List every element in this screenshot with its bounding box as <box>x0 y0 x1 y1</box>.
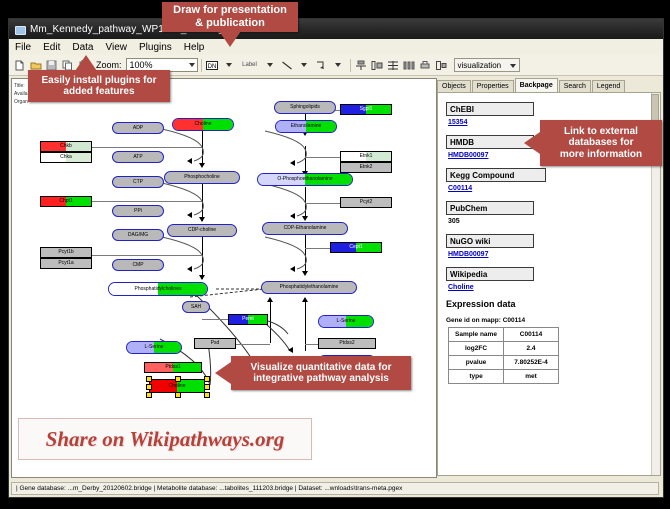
node-phosphocholine[interactable]: Phosphocholine <box>164 171 240 184</box>
node-label: Choline <box>169 384 186 389</box>
node-label: Ptdss1 <box>165 365 180 370</box>
node-l-serine-left[interactable]: L-Serine <box>126 341 182 354</box>
chevron-down-icon <box>189 63 195 67</box>
line-tool-icon[interactable] <box>280 58 295 73</box>
node-label: CDP-Ethanolamine <box>284 226 327 231</box>
selection-handle-nw[interactable] <box>146 376 152 382</box>
edge-cdpcholine-ptdcholine <box>202 235 203 279</box>
zoom-value: 100% <box>130 60 153 70</box>
node-phosphatidylcholines[interactable]: Phosphatidylcholines <box>108 282 208 296</box>
connector-psd-edge <box>235 344 270 345</box>
connector-pcyt2-edge <box>305 203 340 204</box>
cell-value: met <box>504 370 559 384</box>
menu-view[interactable]: View <box>99 42 133 53</box>
db-link-kegg[interactable]: C00114 <box>448 185 660 192</box>
node-atp[interactable]: ATP <box>112 151 164 163</box>
callout-draw-text: Draw for presentation & publication <box>173 4 287 29</box>
share-banner-text: Share on Wikipathways.org <box>46 427 285 452</box>
node-label: L-Serine <box>145 345 164 350</box>
label-tool-icon[interactable]: Label <box>239 58 261 73</box>
svg-text:DN: DN <box>208 64 217 70</box>
toolbar-separator <box>350 59 351 72</box>
connector-etnk-edge <box>305 157 340 158</box>
pathvisio-icon <box>14 24 25 35</box>
chevron-down-icon <box>301 63 307 67</box>
table-row: type met <box>449 370 559 384</box>
tab-properties[interactable]: Properties <box>472 80 514 92</box>
stack-tool-icon[interactable] <box>386 58 401 73</box>
callout-draw-arrow <box>219 31 241 47</box>
arrowhead-icon <box>187 158 192 164</box>
arrowhead-icon <box>199 217 205 222</box>
node-label: L-Serine <box>337 319 356 324</box>
node-label: Chpt1 <box>59 199 72 204</box>
selection-handle-se[interactable] <box>204 392 210 398</box>
db-header-pubchem: PubChem <box>446 201 534 215</box>
callout-visualize-text: Visualize quantitative data for integrat… <box>251 362 392 385</box>
callout-plugins-text: Easily install plugins for added feature… <box>41 75 156 98</box>
node-phosphatidylethanolamine[interactable]: Phosphatidylethanolamine <box>261 281 357 294</box>
node-chpt1[interactable]: Chpt1 <box>40 196 92 207</box>
node-ptdss1[interactable]: Ptdss1 <box>144 362 202 373</box>
node-label: CDP-choline <box>188 228 216 233</box>
chevron-down-icon <box>267 63 273 67</box>
status-text: | Gene database: ...m_Derby_20120602.bri… <box>16 485 402 492</box>
callout-draw: Draw for presentation & publication <box>162 2 298 32</box>
pathway-organism-label: Organ <box>14 99 28 105</box>
arrowhead-icon <box>302 297 308 302</box>
arrowhead-icon <box>302 271 308 276</box>
title-bar: Mm_Kennedy_pathway_WP1771_45176.gpml <box>9 19 663 39</box>
node-label: Sgpl1 <box>360 107 373 112</box>
menu-bar: File Edit Data View Plugins Help <box>9 39 663 56</box>
node-label: Pcyt1a <box>58 261 73 266</box>
print-icon[interactable] <box>418 58 433 73</box>
order-tool-icon[interactable] <box>434 58 449 73</box>
node-label: Chka <box>60 155 72 160</box>
callout-plugins-arrow <box>75 55 97 71</box>
menu-edit[interactable]: Edit <box>37 42 66 53</box>
selection-handle-ne[interactable] <box>204 376 210 382</box>
expression-data-heading: Expression data <box>446 299 660 309</box>
arrowhead-icon <box>290 160 295 166</box>
node-label: Phosphocholine <box>184 175 220 180</box>
edge-cdpetn-ptdetn <box>305 232 306 274</box>
pathway-title-label: Title: <box>14 83 25 89</box>
node-ptdss2[interactable]: Ptdss2 <box>318 338 376 349</box>
edge-ethanolamine-ophospho <box>305 146 306 174</box>
db-header-chebi: ChEBI <box>446 102 534 116</box>
arrowhead-icon <box>290 213 295 219</box>
node-cmp[interactable]: CMP <box>112 259 164 271</box>
tab-objects[interactable]: Objects <box>437 80 471 92</box>
table-row: pvalue 7.80252E-4 <box>449 356 559 370</box>
chevron-down-icon <box>510 64 516 68</box>
connector-pcyt1-edge <box>92 255 202 256</box>
interaction-dropdown[interactable] <box>330 58 347 73</box>
node-label: SAH <box>191 305 201 310</box>
db-header-kegg: Kegg Compound <box>446 168 546 182</box>
node-label: Phosphatidylethanolamine <box>280 285 339 290</box>
node-pcyt1a[interactable]: Pcyt1a <box>40 258 92 269</box>
node-label: Sphingolipids <box>290 105 320 110</box>
connector-cept1-edge <box>305 248 330 249</box>
scrollbar-thumb[interactable] <box>651 94 659 122</box>
node-adp[interactable]: ADP <box>112 122 164 134</box>
cell-value: C00114 <box>504 328 559 342</box>
arrowhead-icon <box>267 297 273 302</box>
node-dag-mg[interactable]: DAG/MG <box>112 229 164 241</box>
node-o-phosphoethanolamine[interactable]: O-Phosphoethanolamine <box>257 173 353 186</box>
visualization-select[interactable]: visualization <box>454 58 520 72</box>
callout-visualize-arrow <box>215 362 231 384</box>
datanode-dropdown[interactable] <box>221 58 238 73</box>
node-label: Ptdss2 <box>339 341 354 346</box>
selection-handle-e[interactable] <box>204 384 210 390</box>
node-label: DAG/MG <box>128 233 148 238</box>
edge-phosphocholine-cdpcholine <box>202 179 203 221</box>
node-label: Choline <box>195 122 212 127</box>
status-bar: | Gene database: ...m_Derby_20120602.bri… <box>11 482 659 495</box>
pathway-available-label: Availa <box>14 91 28 97</box>
node-label: ATP <box>133 155 142 160</box>
node-pcyt2[interactable]: Pcyt2 <box>340 197 392 208</box>
label-tool-text: Label <box>242 62 257 68</box>
gene-id-line: Gene id on mapp: C00114 <box>446 317 660 324</box>
interaction-tool-icon[interactable] <box>314 58 329 73</box>
arrowhead-icon <box>302 216 308 221</box>
node-label: Cept1 <box>349 245 362 250</box>
tab-legend[interactable]: Legend <box>592 80 625 92</box>
cell-label: Sample name <box>449 328 504 342</box>
node-label: CMP <box>132 263 143 268</box>
arrowhead-icon <box>199 275 205 280</box>
tab-backpage[interactable]: Backpage <box>515 78 558 92</box>
edge-choline-phosphocholine <box>202 131 203 165</box>
db-header-hmdb: HMDB <box>446 135 534 149</box>
node-choline[interactable]: Choline <box>172 118 234 131</box>
table-row: Sample name C00114 <box>449 328 559 342</box>
node-label: CTP <box>133 180 143 185</box>
tab-search[interactable]: Search <box>559 80 591 92</box>
node-label: Etnk1 <box>360 154 373 159</box>
node-label: Pemt <box>242 317 254 322</box>
node-label: Psd <box>211 341 220 346</box>
datanode-tool-icon[interactable]: DN <box>205 58 220 73</box>
distribute-tool-icon[interactable] <box>402 58 417 73</box>
node-pemt[interactable]: Pemt <box>228 314 268 325</box>
node-sphingolipids[interactable]: Sphingolipids <box>274 101 336 114</box>
connector-chpt1-edge <box>92 201 202 202</box>
node-label: O-Phosphoethanolamine <box>277 177 332 182</box>
line-dropdown[interactable] <box>296 58 313 73</box>
edge-psd-ptdetn <box>270 301 271 343</box>
node-psd[interactable]: Psd <box>194 338 236 349</box>
db-value-pubchem: 305 <box>448 218 660 225</box>
arrowhead-icon <box>187 212 192 218</box>
node-label: Phosphatidylcholines <box>135 287 182 292</box>
db-header-nugo: NuGO wiki <box>446 234 534 248</box>
toolbar-separator <box>201 59 202 72</box>
node-label: Etnk2 <box>360 165 373 170</box>
arrowhead-icon <box>288 347 293 353</box>
node-ppi[interactable]: PPi <box>112 205 164 217</box>
group-tool-icon[interactable] <box>370 58 385 73</box>
arrowhead-icon <box>199 163 205 168</box>
arrowhead-icon <box>290 266 295 272</box>
node-pcyt1b[interactable]: Pcyt1b <box>40 247 92 258</box>
label-dropdown[interactable] <box>262 58 279 73</box>
node-cept1[interactable]: Cept1 <box>330 242 382 253</box>
selection-handle-s[interactable] <box>175 392 181 398</box>
chevron-down-icon <box>335 63 341 67</box>
node-sah[interactable]: SAH <box>182 301 210 313</box>
selection-handle-w[interactable] <box>146 384 152 390</box>
cell-value: 7.80252E-4 <box>504 356 559 370</box>
db-link-nugo[interactable]: HMDB00097 <box>448 251 660 258</box>
visualization-value: visualization <box>458 61 502 70</box>
screenshot-root: Mm_Kennedy_pathway_WP1771_45176.gpml Fil… <box>0 0 670 509</box>
node-l-serine-right[interactable]: L-Serine <box>318 315 374 328</box>
new-file-icon[interactable] <box>12 58 27 73</box>
expression-table: Sample name C00114 log2FC 2.4 pvalue 7.8… <box>448 327 559 384</box>
chevron-down-icon <box>226 63 232 67</box>
node-label: Pcyt1b <box>58 250 73 255</box>
node-label: Chkb <box>60 144 72 149</box>
menu-plugins[interactable]: Plugins <box>133 42 178 53</box>
node-label: ADP <box>133 126 143 131</box>
callout-link-text: Link to external databases for more info… <box>560 126 642 161</box>
side-panel-tabs: Objects Properties Backpage Search Legen… <box>437 78 661 92</box>
callout-link: Link to external databases for more info… <box>540 120 662 166</box>
menu-help[interactable]: Help <box>178 42 211 53</box>
db-header-wikipedia: Wikipedia <box>446 267 534 281</box>
menu-file[interactable]: File <box>9 42 37 53</box>
align-tool-icon[interactable] <box>354 58 369 73</box>
arrowhead-icon <box>187 266 192 272</box>
selection-handle-sw[interactable] <box>146 392 152 398</box>
callout-visualize: Visualize quantitative data for integrat… <box>231 356 411 390</box>
node-ethanolamine-top[interactable]: Ethanolamine <box>275 120 337 133</box>
callout-plugins: Easily install plugins for added feature… <box>28 70 170 102</box>
cell-value: 2.4 <box>504 342 559 356</box>
callout-link-arrow <box>524 132 540 154</box>
node-etnk1[interactable]: Etnk1 <box>340 151 392 162</box>
menu-data[interactable]: Data <box>66 42 99 53</box>
selection-handle-n[interactable] <box>175 376 181 382</box>
node-chka[interactable]: Chka <box>40 152 92 163</box>
share-banner: Share on Wikipathways.org <box>18 418 312 460</box>
node-label: Ethanolamine <box>291 124 322 129</box>
node-ctp[interactable]: CTP <box>112 176 164 188</box>
zoom-label: Zoom: <box>96 60 122 70</box>
node-sgpl1[interactable]: Sgpl1 <box>340 104 392 115</box>
db-link-wikipedia[interactable]: Choline <box>448 284 660 291</box>
node-label: PPi <box>134 209 142 214</box>
cell-label: log2FC <box>449 342 504 356</box>
table-row: log2FC 2.4 <box>449 342 559 356</box>
cell-label: type <box>449 370 504 384</box>
node-label: Pcyt2 <box>360 200 373 205</box>
cell-label: pvalue <box>449 356 504 370</box>
node-etnk2[interactable]: Etnk2 <box>340 162 392 173</box>
node-cdp-choline[interactable]: CDP-choline <box>167 224 237 237</box>
node-chkb[interactable]: Chkb <box>40 141 92 152</box>
node-cdp-ethanolamine[interactable]: CDP-Ethanolamine <box>262 222 348 235</box>
connector-chk-edge <box>92 147 202 148</box>
